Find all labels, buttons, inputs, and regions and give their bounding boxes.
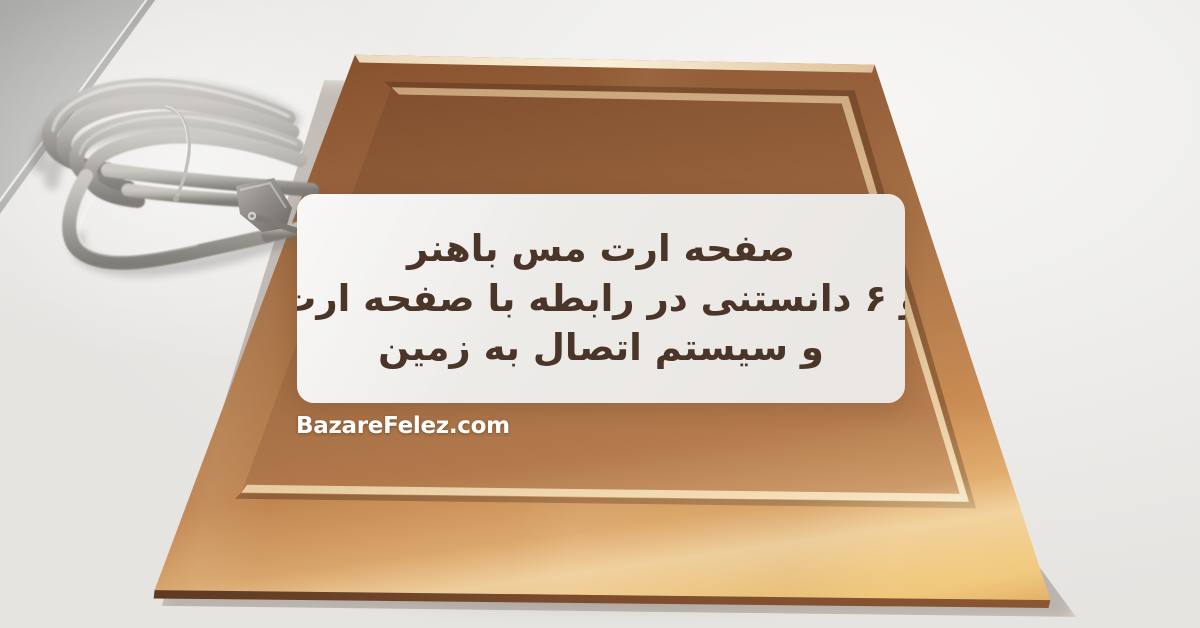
title-line-2: و ۶ دانستنی در رابطه با صفحه ارت — [297, 279, 905, 319]
title-line-1: صفحه ارت مس باهنر — [407, 229, 795, 269]
article-header-image: صفحه ارت مس باهنر و ۶ دانستنی در رابطه ب… — [0, 0, 1200, 628]
title-line-3: و سیستم اتصال به زمین — [378, 328, 824, 368]
title-card: صفحه ارت مس باهنر و ۶ دانستنی در رابطه ب… — [297, 194, 905, 403]
site-watermark: BazareFelez.com — [296, 413, 510, 439]
